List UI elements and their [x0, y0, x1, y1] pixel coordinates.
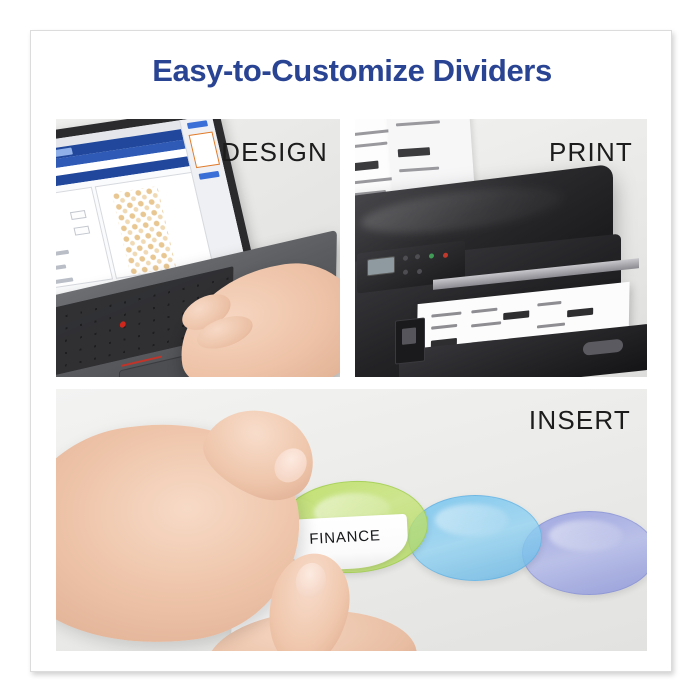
divider-tab-purple	[522, 511, 647, 595]
panel-label-print: PRINT	[549, 137, 633, 168]
divider-tab-blue	[408, 495, 542, 581]
panel-insert: FINANCE INSERT	[56, 389, 647, 651]
fingernail	[292, 560, 329, 601]
form-input	[70, 210, 87, 220]
paper-text-line	[396, 120, 440, 126]
printer-lcd-display	[367, 256, 395, 276]
paper-label-block	[398, 147, 430, 157]
tab-highlight	[435, 504, 509, 536]
label-text-line	[537, 323, 565, 329]
tray-handle[interactable]	[583, 339, 623, 356]
page-title: Easy-to-Customize Dividers	[31, 53, 672, 89]
panel-print: PRINT	[355, 119, 647, 377]
printer-button[interactable]	[417, 269, 422, 275]
printer-stop-button[interactable]	[443, 252, 448, 258]
thumbnail	[268, 442, 313, 489]
label-block	[567, 308, 593, 318]
printer-button[interactable]	[415, 254, 420, 260]
divider-thumbnail[interactable]	[189, 131, 220, 168]
tab-highlight	[549, 520, 623, 551]
label-text-line	[537, 301, 561, 307]
printer-start-button[interactable]	[429, 253, 434, 259]
divider-pattern-preview	[112, 186, 177, 275]
label-text-line	[471, 321, 501, 327]
paper-text-line	[355, 142, 387, 149]
form-label	[56, 277, 74, 287]
form-input	[73, 226, 90, 236]
product-image-canvas: Easy-to-Customize Dividers	[0, 0, 700, 700]
paper-label-block	[355, 161, 379, 172]
cartridge-window	[402, 327, 416, 344]
printer-button[interactable]	[403, 269, 408, 275]
label-block	[503, 310, 529, 320]
form-label	[56, 264, 66, 274]
panel-label-design: DESIGN	[221, 137, 328, 168]
printer-cartridge-door[interactable]	[395, 317, 425, 364]
panel-label-insert: INSERT	[529, 405, 631, 436]
product-card: Easy-to-Customize Dividers	[30, 30, 672, 672]
sidebar-chip	[199, 171, 220, 180]
sidebar-chip	[187, 120, 208, 129]
label-text-line	[431, 311, 461, 317]
panel-design: DESIGN	[56, 119, 340, 377]
form-label	[56, 250, 69, 260]
printer-button[interactable]	[403, 255, 408, 261]
label-text-line	[471, 308, 497, 314]
paper-text-line	[399, 167, 439, 173]
label-text-line	[431, 324, 457, 330]
